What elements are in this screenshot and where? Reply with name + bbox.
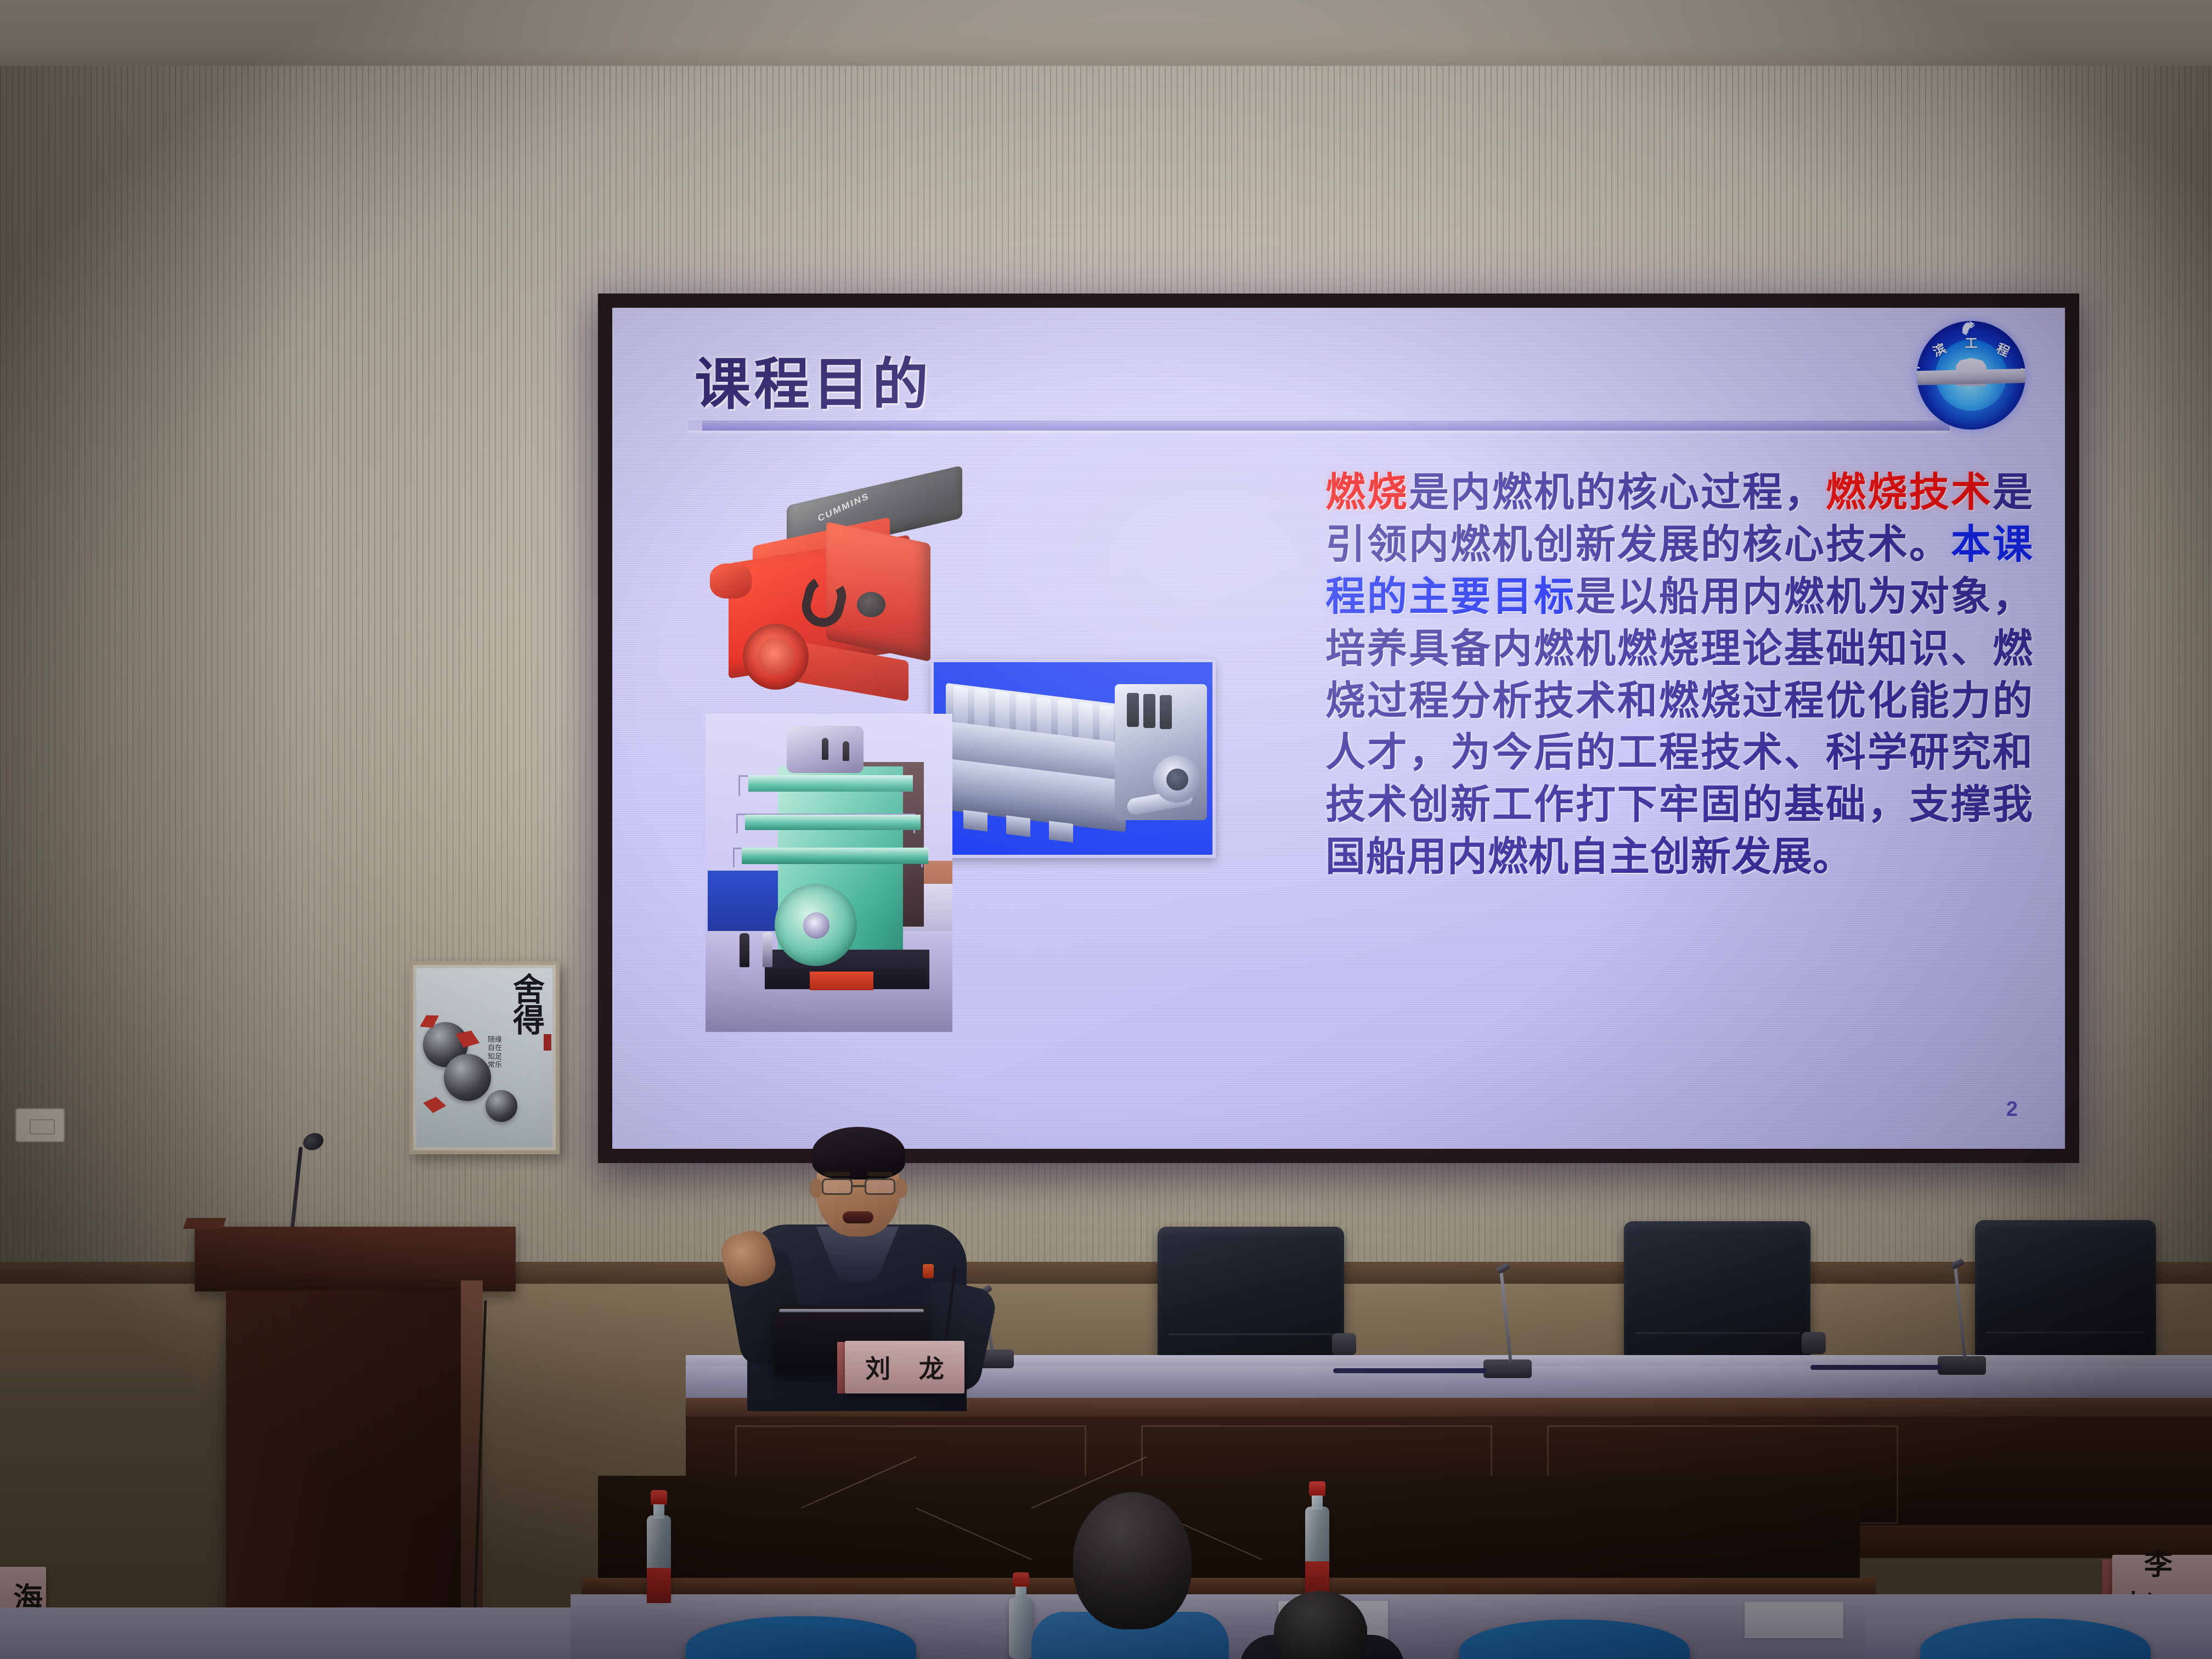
microphone-cord-2	[1810, 1365, 1942, 1370]
foreground-desk-rail	[582, 1578, 1876, 1596]
slide-text-run-normal: 是以船用内燃机为对象，培养具备内燃机燃烧理论基础知识、燃烧过程分析技术和燃烧过程…	[1325, 574, 2033, 879]
photo-person-4	[843, 741, 849, 761]
chair-arm-1	[1332, 1333, 1356, 1355]
photo-scene: 舍得 随缘自在知足常乐 课程目的 哈尔滨工程大学 HARBIN ENGINEER…	[0, 0, 2212, 1659]
slide-text-run-red: 燃烧	[1325, 470, 1409, 515]
speaker-eyebrow-right	[867, 1172, 893, 1176]
slide-text-run-red: 燃烧技术	[1826, 470, 1993, 515]
art-seal	[544, 1034, 551, 1051]
engine-platform-a	[748, 775, 913, 792]
art-fruit-3	[486, 1090, 517, 1122]
engine-cap	[857, 592, 885, 617]
framed-wall-art: 舍得 随缘自在知足常乐	[409, 961, 560, 1154]
conference-chair-3[interactable]	[1975, 1220, 2156, 1375]
eyeglasses-bridge	[851, 1185, 866, 1187]
conference-chair-2[interactable]	[1624, 1221, 1810, 1375]
harbin-engineering-university-logo-icon: 哈尔滨工程大学 HARBIN ENGINEERING UNIVERSITY	[1917, 321, 2025, 430]
engine-pulley-inner	[757, 638, 794, 675]
engine-flywheel-hub	[803, 912, 830, 939]
title-divider-cap	[688, 420, 702, 431]
chair-arm-2	[1802, 1332, 1826, 1354]
art-fruit-2	[444, 1054, 491, 1101]
slide-title: 课程目的	[695, 340, 932, 420]
speaker-ear-right	[894, 1178, 907, 1198]
art-inscription: 随缘自在知足常乐	[487, 1035, 503, 1069]
eyeglasses-icon-right-lens	[865, 1178, 895, 1195]
conference-chair-1[interactable]	[1158, 1227, 1344, 1375]
lectern	[226, 1290, 474, 1630]
art-calligraphy: 舍得	[511, 975, 547, 1036]
speaker-ear-left	[810, 1178, 823, 1198]
engine-turbo-inlet	[1166, 769, 1188, 791]
projection-screen-frame: 课程目的 哈尔滨工程大学 HARBIN ENGINEERING UNIVERSI…	[598, 294, 2079, 1163]
microphone-cord-1	[1333, 1368, 1487, 1373]
logo-english-arc-text: HARBIN ENGINEERING UNIVERSITY	[1917, 321, 2025, 430]
photo-person-1	[740, 933, 749, 967]
engine-red-pad	[810, 972, 873, 990]
ceiling	[0, 0, 2212, 77]
slide-image-red-cummins-engine: CUMMINS	[700, 467, 963, 703]
photo-person-2	[763, 932, 772, 967]
engine-platform-b	[745, 815, 921, 830]
speaker-mouth	[843, 1211, 873, 1223]
audience-head-1	[1073, 1492, 1192, 1629]
photo-blue-building	[708, 871, 778, 936]
wall-outlet[interactable]	[15, 1108, 65, 1142]
speaker-nameplate: 刘 龙	[845, 1341, 964, 1393]
wall-shadow-left	[0, 66, 307, 1273]
slide-page-number: 2	[2006, 1098, 2018, 1121]
slide-text-run-normal: 是内燃机的核心过程，	[1409, 470, 1826, 515]
speaker-eyebrow-left	[824, 1172, 850, 1176]
slide-body-text: 燃烧是内燃机的核心过程，燃烧技术是引领内燃机创新发展的核心技术。本课程的主要目标…	[1325, 467, 2033, 883]
foreground-desk-left	[0, 1607, 582, 1659]
engine-turbocharger	[710, 563, 752, 599]
projected-slide: 课程目的 哈尔滨工程大学 HARBIN ENGINEERING UNIVERSI…	[612, 308, 2065, 1149]
title-divider-rule	[688, 420, 1950, 431]
slide-image-v-marine-engine	[930, 659, 1216, 858]
eyeglasses-icon-left-lens	[822, 1178, 853, 1195]
red-lapel-pin-icon	[923, 1264, 934, 1278]
photo-person-3	[822, 738, 828, 760]
foreground-paper-2[interactable]	[1745, 1602, 1843, 1638]
slide-image-green-lowspeed-engine	[706, 714, 952, 1032]
engine-platform-c	[742, 848, 928, 864]
